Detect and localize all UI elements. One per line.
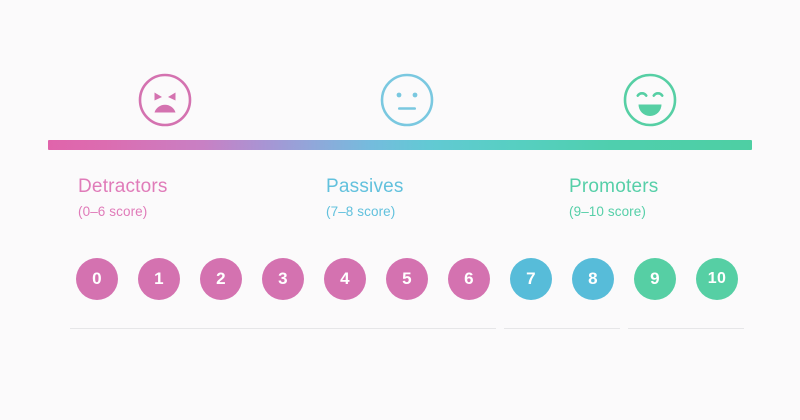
detractors-face-slot [125, 62, 205, 138]
passives-label-block: Passives (7–8 score) [326, 175, 404, 221]
score-chip-9[interactable]: 9 [634, 258, 676, 300]
score-chip-2[interactable]: 2 [200, 258, 242, 300]
detractors-range: (0–6 score) [78, 203, 168, 221]
detractors-underline [70, 328, 496, 329]
score-chip-5[interactable]: 5 [386, 258, 428, 300]
promoters-face-slot [610, 62, 690, 138]
passives-range: (7–8 score) [326, 203, 404, 221]
score-chip-3[interactable]: 3 [262, 258, 304, 300]
nps-gradient-bar [48, 140, 752, 150]
promoters-title: Promoters [569, 175, 658, 199]
face-icons-row [48, 62, 752, 138]
score-chip-7[interactable]: 7 [510, 258, 552, 300]
passives-underline [504, 328, 620, 329]
angry-face-icon [135, 70, 195, 130]
category-labels-row: Detractors (0–6 score) Passives (7–8 sco… [48, 175, 752, 227]
passives-title: Passives [326, 175, 404, 199]
score-chips-row: 0 1 2 3 4 5 6 7 8 9 10 [48, 258, 752, 332]
happy-face-icon [620, 70, 680, 130]
promoters-label-block: Promoters (9–10 score) [569, 175, 658, 221]
score-chip-6[interactable]: 6 [448, 258, 490, 300]
score-chip-1[interactable]: 1 [138, 258, 180, 300]
detractors-label-block: Detractors (0–6 score) [78, 175, 168, 221]
promoters-range: (9–10 score) [569, 203, 658, 221]
promoters-underline [628, 328, 744, 329]
neutral-face-icon [377, 70, 437, 130]
detractors-title: Detractors [78, 175, 168, 199]
score-chip-8[interactable]: 8 [572, 258, 614, 300]
passives-face-slot [367, 62, 447, 138]
score-chip-10[interactable]: 10 [696, 258, 738, 300]
nps-diagram: Detractors (0–6 score) Passives (7–8 sco… [0, 0, 800, 420]
score-chip-0[interactable]: 0 [76, 258, 118, 300]
score-chip-4[interactable]: 4 [324, 258, 366, 300]
